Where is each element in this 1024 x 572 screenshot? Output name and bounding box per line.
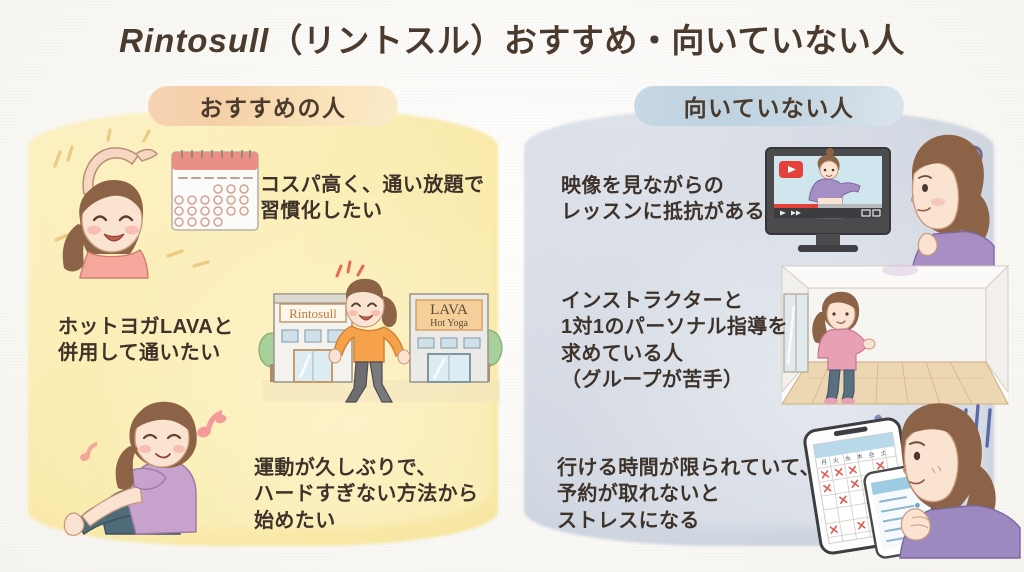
cheek-left [87, 226, 101, 235]
cheek-right [125, 226, 139, 235]
svg-text:火: 火 [833, 457, 840, 465]
not-recommended-header-pill: 向いていない人 [634, 86, 904, 126]
foot [64, 513, 84, 535]
page-title: Rintosull（リントスル）おすすめ・向いていない人 [0, 14, 1024, 62]
infographic-canvas: Rintosull（リントスル）おすすめ・向いていない人 おすすめの人 [0, 0, 1024, 572]
recommended-header-label: おすすめの人 [200, 89, 347, 123]
page-title-jp: （リントスル）おすすめ・向いていない人 [269, 22, 905, 59]
cheek [931, 198, 945, 206]
empty-studio-illustration [782, 266, 1008, 404]
eye [914, 452, 920, 460]
eye [922, 184, 928, 192]
recommended-item-3-text: 運動が久しぶりで、 ハードすぎない方法から 始めたい [254, 455, 478, 534]
two-studios-storefront-illustration: Rintosull LAVA Hot Yoga [262, 262, 500, 402]
wall-calendar-icon [172, 150, 258, 230]
not-recommended-item-1-text: 映像を見ながらの レッスンに抵抗がある [561, 173, 765, 226]
open-hand [863, 339, 875, 349]
video-progress-fill [774, 204, 818, 208]
leg-right [842, 370, 854, 400]
woman-watching-video-illustration [762, 130, 994, 272]
face [912, 163, 958, 229]
not-recommended-item-2-text: インストラクターと 1対1のパーソナル指導を 求めている人 （グループが苦手） [561, 288, 788, 394]
recommended-header-pill: おすすめの人 [148, 86, 398, 126]
lava-storefront: LAVA Hot Yoga [410, 294, 488, 382]
play-badge-icon [779, 161, 803, 178]
ceiling-light [882, 264, 918, 276]
stressed-woman [900, 403, 1020, 558]
lava-sign-subtext: Hot Yoga [430, 318, 468, 329]
recommended-item-2-text: ホットヨガLAVAと 併用して通いたい [58, 314, 233, 367]
excited-marks-icon [337, 262, 363, 276]
phone-booking-illustration: 月火水 木金土 [790, 398, 1020, 558]
lava-sign-text: LAVA [430, 302, 468, 318]
seated-forward-bend-illustration [60, 392, 270, 542]
svg-text:月: 月 [821, 459, 828, 467]
video-monitor-icon [766, 148, 890, 252]
music-note-small-icon [79, 442, 97, 462]
hand [918, 234, 937, 256]
watching-woman [912, 135, 995, 272]
walking-woman-ponytail [382, 296, 397, 327]
not-recommended-header-label: 向いていない人 [684, 89, 855, 123]
music-note-icon [196, 410, 228, 439]
stretching-woman-with-calendar-illustration [48, 128, 263, 278]
rintosull-sign-text: Rintosull [289, 306, 337, 321]
not-recommended-item-3-text: 行ける時間が限られていて、 予約が取れないと ストレスになる [557, 455, 820, 534]
recommended-item-1-text: コスパ高く、通い放題で 習慣化したい [260, 172, 484, 225]
page-title-en: Rintosull [119, 22, 269, 59]
pink-top [80, 250, 148, 278]
